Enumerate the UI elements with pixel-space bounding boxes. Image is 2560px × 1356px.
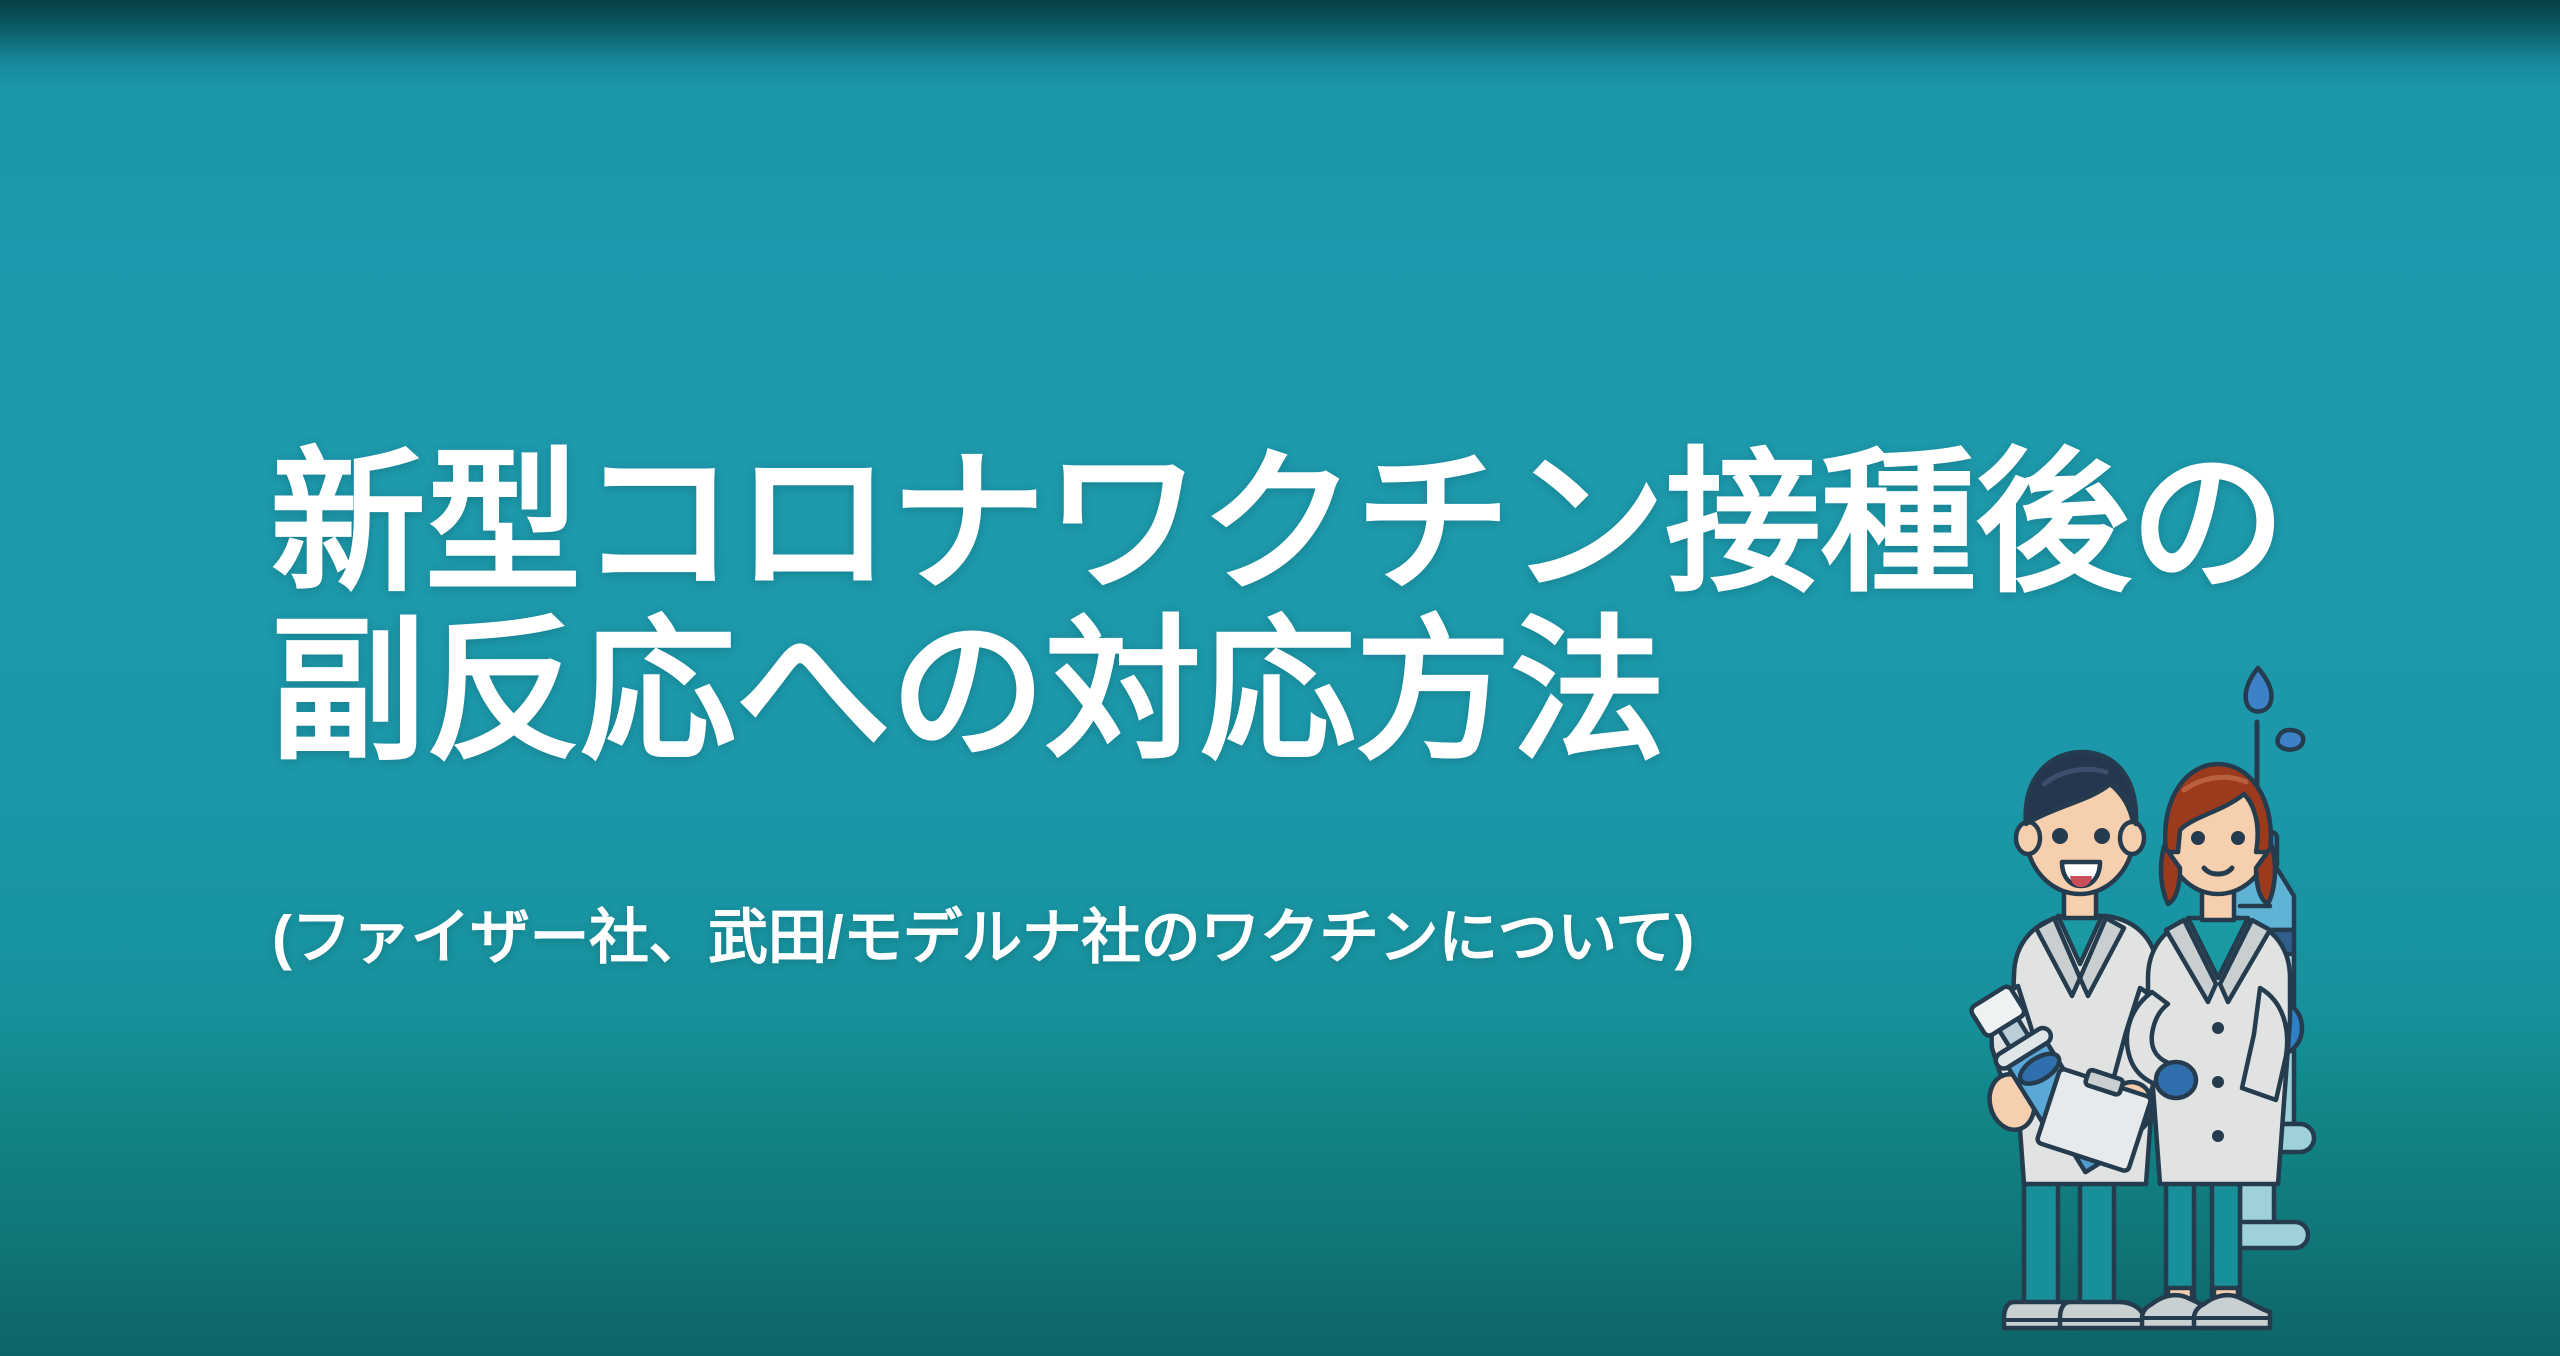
female-gloved-hand-left: [2156, 1062, 2196, 1098]
female-coat-button-1: [2212, 1022, 2224, 1034]
female-eye-left: [2191, 831, 2205, 845]
male-shoe-right: [2060, 1302, 2144, 1328]
male-leg-right: [2080, 1180, 2114, 1308]
two-doctors-with-syringe-illustration: .ol { stroke:#253b4e; stroke-width:4.5; …: [1940, 656, 2380, 1356]
male-ear-right: [2120, 822, 2144, 854]
slide-canvas: 新型コロナワクチン接種後の 副反応への対応方法 (ファイザー社、武田/モデルナ社…: [0, 0, 2560, 1356]
droplet-small-icon: [2278, 730, 2304, 750]
male-eye-left: [2052, 828, 2068, 844]
female-shoe-right: [2194, 1295, 2270, 1328]
female-eye-right: [2231, 831, 2245, 845]
female-coat-button-2: [2212, 1076, 2224, 1088]
male-eye-right: [2094, 828, 2110, 844]
male-ear-left: [2016, 822, 2040, 854]
female-coat-button-3: [2212, 1130, 2224, 1142]
female-leg-right: [2212, 1180, 2240, 1304]
male-leg-left: [2024, 1180, 2058, 1308]
title-line-1: 新型コロナワクチン接種後の: [270, 440, 2270, 608]
droplet-large-icon: [2246, 668, 2272, 712]
female-leg-left: [2166, 1180, 2194, 1304]
page-subtitle: (ファイザー社、武田/モデルナ社のワクチンについて): [272, 902, 1694, 974]
